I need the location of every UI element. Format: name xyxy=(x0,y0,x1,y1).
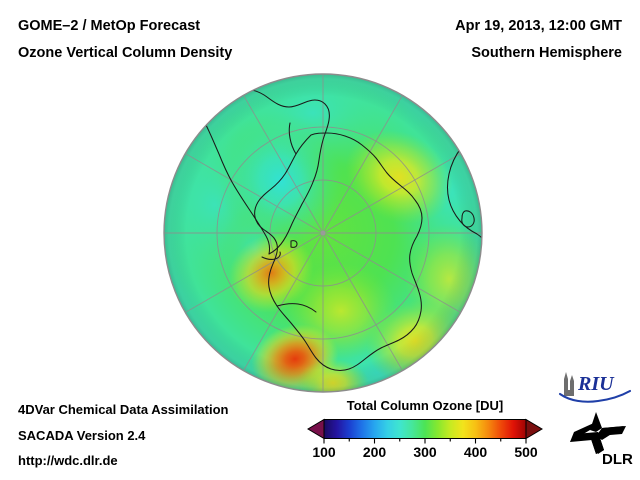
footer-method: 4DVar Chemical Data Assimilation xyxy=(18,402,229,417)
coastline-tasmania xyxy=(233,385,239,393)
header-timestamp: Apr 19, 2013, 12:00 GMT xyxy=(455,18,622,34)
colorbar-tick-label-300: 300 xyxy=(413,444,436,460)
dlr-logo: DLR xyxy=(566,410,634,468)
colorbar-tick-labels: 100 200 300 400 500 xyxy=(305,444,545,466)
south-pole-marker xyxy=(321,231,326,236)
header-product-title: Ozone Vertical Column Density xyxy=(18,45,232,61)
footer-url[interactable]: http://wdc.dlr.de xyxy=(18,453,118,468)
riu-tower-icon xyxy=(564,372,574,396)
dlr-pinwheel-icon xyxy=(570,412,626,454)
colorbar-legend: Total Column Ozone [DU] xyxy=(305,398,545,470)
colorbar-gradient xyxy=(324,420,526,439)
colorbar-over-arrow xyxy=(526,420,542,439)
header-instrument-title: GOME–2 / MetOp Forecast xyxy=(18,18,200,34)
header-region: Southern Hemisphere xyxy=(471,45,622,61)
colorbar-tick-label-500: 500 xyxy=(514,444,537,460)
globe-svg xyxy=(163,73,483,393)
colorbar-ticks xyxy=(324,439,526,444)
colorbar-tick-label-100: 100 xyxy=(312,444,335,460)
colorbar-swatch xyxy=(305,418,545,444)
colorbar-tick-label-400: 400 xyxy=(464,444,487,460)
colorbar-under-arrow xyxy=(308,420,324,439)
dlr-logo-text: DLR xyxy=(602,451,633,468)
coastline-africa-inland xyxy=(469,165,481,171)
ozone-globe-map xyxy=(163,73,483,393)
riu-logo-text: RIU xyxy=(577,373,615,395)
footer-version: SACADA Version 2.4 xyxy=(18,428,145,443)
riu-logo: RIU xyxy=(558,370,632,404)
ozone-forecast-map-page: GOME–2 / MetOp Forecast Ozone Vertical C… xyxy=(0,0,640,480)
colorbar-title: Total Column Ozone [DU] xyxy=(305,398,545,413)
colorbar-tick-label-200: 200 xyxy=(363,444,386,460)
